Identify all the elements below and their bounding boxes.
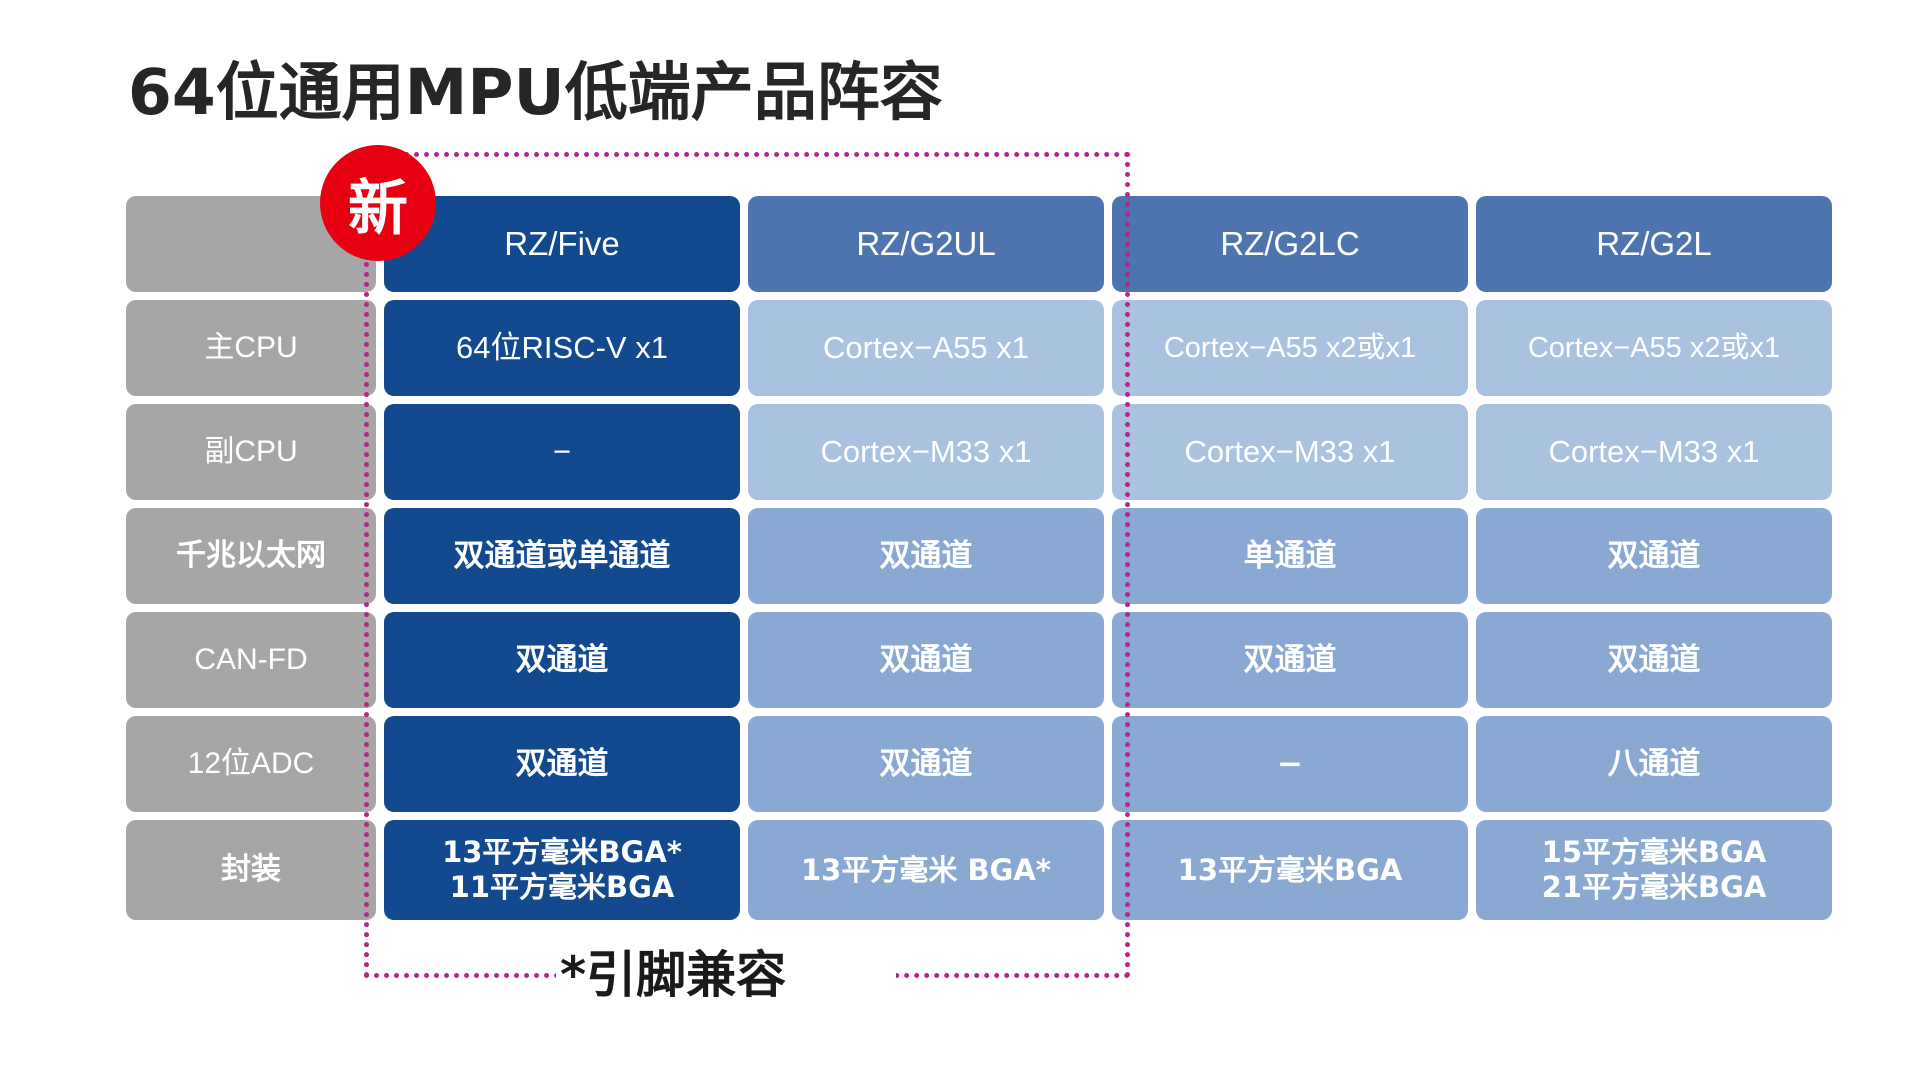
cell-can-fd-rz-five: 双通道 bbox=[384, 612, 740, 708]
page-title: 64位通用MPU低端产品阵容 bbox=[128, 42, 943, 133]
new-badge: 新 bbox=[320, 145, 436, 261]
cell-package-rz-five-line2: 11平方毫米BGA bbox=[450, 870, 675, 905]
column-header-rz-g2lc[interactable]: RZ/G2LC bbox=[1112, 196, 1468, 292]
cell-gigabit-ethernet-rz-g2ul: 双通道 bbox=[748, 508, 1104, 604]
cell-main-cpu-rz-five: 64位RISC-V x1 bbox=[384, 300, 740, 396]
cell-package-rz-g2lc: 13平方毫米BGA bbox=[1112, 820, 1468, 920]
cell-package-rz-g2l-line1: 15平方毫米BGA bbox=[1542, 835, 1767, 870]
cell-12bit-adc-rz-g2l: 八通道 bbox=[1476, 716, 1832, 812]
cell-package-rz-five-line1: 13平方毫米BGA* bbox=[442, 835, 682, 870]
cell-gigabit-ethernet-rz-g2lc: 单通道 bbox=[1112, 508, 1468, 604]
cell-can-fd-rz-g2ul: 双通道 bbox=[748, 612, 1104, 708]
row-label-gigabit-ethernet: 千兆以太网 bbox=[126, 508, 376, 604]
cell-sub-cpu-rz-five: − bbox=[384, 404, 740, 500]
cell-main-cpu-rz-g2l: Cortex−A55 x2或x1 bbox=[1476, 300, 1832, 396]
row-label-package: 封装 bbox=[126, 820, 376, 920]
column-header-rz-g2l[interactable]: RZ/G2L bbox=[1476, 196, 1832, 292]
cell-package-rz-g2l: 15平方毫米BGA 21平方毫米BGA bbox=[1476, 820, 1832, 920]
cell-12bit-adc-rz-five: 双通道 bbox=[384, 716, 740, 812]
cell-main-cpu-rz-g2lc: Cortex−A55 x2或x1 bbox=[1112, 300, 1468, 396]
cell-package-rz-five: 13平方毫米BGA* 11平方毫米BGA bbox=[384, 820, 740, 920]
cell-sub-cpu-rz-g2l: Cortex−M33 x1 bbox=[1476, 404, 1832, 500]
cell-package-rz-g2l-line2: 21平方毫米BGA bbox=[1542, 870, 1767, 905]
cell-can-fd-rz-g2l: 双通道 bbox=[1476, 612, 1832, 708]
column-header-rz-five[interactable]: RZ/Five bbox=[384, 196, 740, 292]
column-header-rz-g2ul[interactable]: RZ/G2UL bbox=[748, 196, 1104, 292]
cell-sub-cpu-rz-g2lc: Cortex−M33 x1 bbox=[1112, 404, 1468, 500]
row-label-12bit-adc: 12位ADC bbox=[126, 716, 376, 812]
slide-canvas: 64位通用MPU低端产品阵容 RZ/Five RZ/G2UL RZ/G2LC R… bbox=[0, 0, 1920, 1080]
cell-can-fd-rz-g2lc: 双通道 bbox=[1112, 612, 1468, 708]
cell-12bit-adc-rz-g2ul: 双通道 bbox=[748, 716, 1104, 812]
cell-main-cpu-rz-g2ul: Cortex−A55 x1 bbox=[748, 300, 1104, 396]
row-label-sub-cpu: 副CPU bbox=[126, 404, 376, 500]
pin-compatible-footnote: *引脚兼容 bbox=[560, 935, 786, 1007]
cell-package-rz-g2ul: 13平方毫米 BGA* bbox=[748, 820, 1104, 920]
cell-gigabit-ethernet-rz-g2l: 双通道 bbox=[1476, 508, 1832, 604]
cell-12bit-adc-rz-g2lc: − bbox=[1112, 716, 1468, 812]
row-label-can-fd: CAN-FD bbox=[126, 612, 376, 708]
cell-gigabit-ethernet-rz-five: 双通道或单通道 bbox=[384, 508, 740, 604]
row-label-main-cpu: 主CPU bbox=[126, 300, 376, 396]
product-comparison-table: RZ/Five RZ/G2UL RZ/G2LC RZ/G2L 主CPU 64位R… bbox=[126, 196, 1830, 920]
cell-sub-cpu-rz-g2ul: Cortex−M33 x1 bbox=[748, 404, 1104, 500]
